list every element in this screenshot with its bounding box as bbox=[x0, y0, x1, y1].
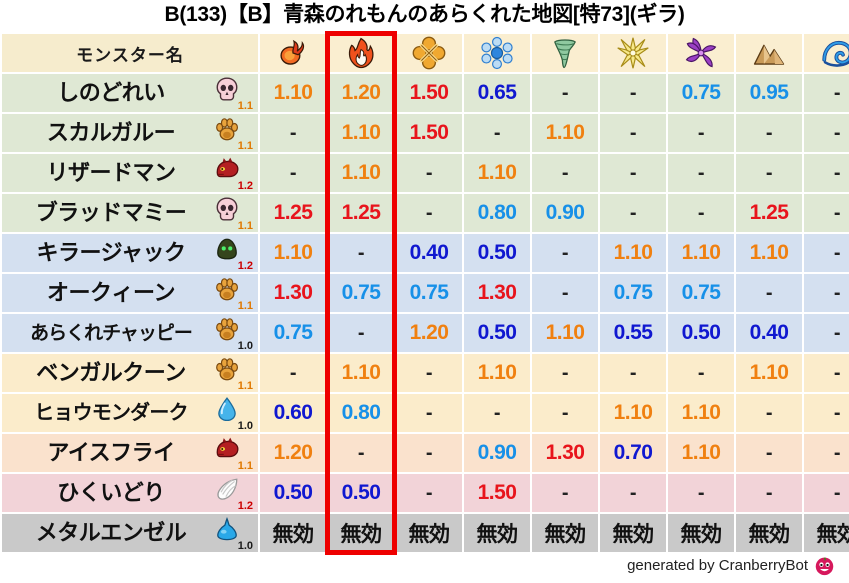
resistance-cell[interactable]: - bbox=[260, 114, 326, 152]
resistance-cell[interactable]: - bbox=[532, 74, 598, 112]
slime-dark-icon: 1.2 bbox=[212, 236, 254, 270]
resistance-cell[interactable]: 0.75 bbox=[600, 274, 666, 312]
page-title: B(133)【B】青森のれもんのあらくれた地図[特73](ギラ) bbox=[0, 0, 849, 32]
resistance-cell[interactable]: - bbox=[328, 234, 394, 272]
resistance-cell[interactable]: - bbox=[804, 474, 849, 512]
monster-name: ひくいどり bbox=[12, 482, 210, 504]
fireball-icon bbox=[260, 36, 326, 70]
monster-name-cell[interactable]: キラージャック1.2 bbox=[2, 234, 258, 272]
resistance-cell[interactable]: 0.40 bbox=[396, 234, 462, 272]
droplet-icon: 1.0 bbox=[212, 396, 254, 430]
resistance-cell[interactable]: 1.10 bbox=[600, 234, 666, 272]
resistance-cell[interactable]: 1.10 bbox=[736, 354, 802, 392]
header-element-8[interactable] bbox=[804, 34, 849, 72]
resistance-cell[interactable]: 1.30 bbox=[532, 434, 598, 472]
resistance-cell[interactable]: 1.10 bbox=[668, 394, 734, 432]
table-row: オークィーン1.11.300.750.751.30-0.750.75-- bbox=[2, 274, 849, 312]
resistance-cell[interactable]: - bbox=[532, 474, 598, 512]
resistance-cell[interactable]: - bbox=[804, 434, 849, 472]
monster-name: ヒョウモンダーク bbox=[12, 403, 210, 423]
resistance-cell[interactable]: - bbox=[804, 394, 849, 432]
resistance-cell[interactable]: 0.65 bbox=[464, 74, 530, 112]
resistance-cell[interactable]: - bbox=[600, 154, 666, 192]
resistance-cell[interactable]: 0.75 bbox=[668, 274, 734, 312]
header-element-0[interactable] bbox=[260, 34, 326, 72]
monster-name: キラージャック bbox=[12, 242, 210, 264]
resistance-cell[interactable]: - bbox=[804, 154, 849, 192]
table-row: リザードマン1.2-1.10-1.10----- bbox=[2, 154, 849, 192]
resistance-cell[interactable]: - bbox=[532, 234, 598, 272]
resistance-cell[interactable]: 無効 bbox=[464, 514, 530, 552]
resistance-cell[interactable]: 1.50 bbox=[396, 114, 462, 152]
resistance-cell[interactable]: 0.80 bbox=[464, 194, 530, 232]
monster-name-cell[interactable]: ひくいどり1.2 bbox=[2, 474, 258, 512]
dragon-icon: 1.1 bbox=[212, 436, 254, 470]
table-row: しのどれい1.11.101.201.500.65--0.750.95- bbox=[2, 74, 849, 112]
header-element-2[interactable] bbox=[396, 34, 462, 72]
resistance-cell[interactable]: 0.75 bbox=[396, 274, 462, 312]
cranberry-icon bbox=[814, 555, 835, 576]
monster-name: ブラッドマミー bbox=[12, 202, 210, 224]
resistance-cell[interactable]: 1.10 bbox=[260, 234, 326, 272]
resistance-cell[interactable]: 1.10 bbox=[328, 114, 394, 152]
resistance-cell[interactable]: - bbox=[396, 154, 462, 192]
skull-icon: 1.1 bbox=[212, 196, 254, 230]
resistance-multiplier: 1.1 bbox=[238, 461, 253, 472]
resistance-cell[interactable]: 0.60 bbox=[260, 394, 326, 432]
resistance-cell[interactable]: - bbox=[668, 474, 734, 512]
resistance-cell[interactable]: - bbox=[736, 154, 802, 192]
resistance-cell[interactable]: 0.50 bbox=[464, 234, 530, 272]
table-row: スカルガルー1.1-1.101.50-1.10---- bbox=[2, 114, 849, 152]
resistance-cell[interactable]: 1.10 bbox=[532, 314, 598, 352]
resistance-cell[interactable]: - bbox=[804, 234, 849, 272]
explosion-icon bbox=[396, 36, 462, 70]
lightning-icon bbox=[600, 36, 666, 70]
resistance-cell[interactable]: 0.50 bbox=[260, 474, 326, 512]
resistance-cell[interactable]: - bbox=[668, 154, 734, 192]
resistance-cell[interactable]: 0.80 bbox=[328, 394, 394, 432]
resistance-cell[interactable]: 1.10 bbox=[736, 234, 802, 272]
resistance-cell[interactable]: 0.70 bbox=[600, 434, 666, 472]
resistance-cell[interactable]: - bbox=[736, 394, 802, 432]
resistance-multiplier: 1.0 bbox=[238, 541, 253, 552]
resistance-cell[interactable]: 無効 bbox=[736, 514, 802, 552]
resistance-cell[interactable]: 1.50 bbox=[464, 474, 530, 512]
resistance-cell[interactable]: - bbox=[532, 274, 598, 312]
resistance-cell[interactable]: 1.25 bbox=[260, 194, 326, 232]
resistance-multiplier: 1.1 bbox=[238, 101, 253, 112]
resistance-cell[interactable]: 1.10 bbox=[464, 354, 530, 392]
resistance-cell[interactable]: 0.40 bbox=[736, 314, 802, 352]
resistance-multiplier: 1.1 bbox=[238, 381, 253, 392]
resistance-multiplier: 1.1 bbox=[238, 141, 253, 152]
resistance-cell[interactable]: - bbox=[600, 74, 666, 112]
resistance-cell[interactable]: 0.75 bbox=[260, 314, 326, 352]
paw-icon: 1.1 bbox=[212, 116, 254, 150]
resistance-cell[interactable]: 1.10 bbox=[600, 394, 666, 432]
resistance-multiplier: 1.2 bbox=[238, 261, 253, 272]
resistance-cell[interactable]: 1.30 bbox=[464, 274, 530, 312]
resistance-cell[interactable]: - bbox=[532, 394, 598, 432]
table-row: ヒョウモンダーク1.00.600.80---1.101.10-- bbox=[2, 394, 849, 432]
resistance-cell[interactable]: 0.55 bbox=[600, 314, 666, 352]
resistance-multiplier: 1.0 bbox=[238, 421, 253, 432]
monster-name: あらくれチャッピー bbox=[12, 324, 210, 343]
resistance-cell[interactable]: - bbox=[328, 434, 394, 472]
dark-icon bbox=[668, 36, 734, 70]
resistance-cell[interactable]: - bbox=[736, 114, 802, 152]
resistance-cell[interactable]: - bbox=[328, 314, 394, 352]
resistance-cell[interactable]: 0.75 bbox=[668, 74, 734, 112]
resistance-cell[interactable]: 1.10 bbox=[668, 234, 734, 272]
resistance-cell[interactable]: - bbox=[804, 74, 849, 112]
monster-name: オークィーン bbox=[12, 282, 210, 304]
resistance-multiplier: 1.2 bbox=[238, 501, 253, 512]
monster-name: しのどれい bbox=[12, 82, 210, 104]
resistance-cell[interactable]: 0.90 bbox=[532, 194, 598, 232]
page-root: B(133)【B】青森のれもんのあらくれた地図[特73](ギラ) モンスター名し… bbox=[0, 0, 849, 583]
resistance-cell[interactable]: - bbox=[396, 394, 462, 432]
resistance-cell[interactable]: - bbox=[396, 194, 462, 232]
monster-name: ベンガルクーン bbox=[12, 362, 210, 384]
header-element-1[interactable] bbox=[328, 34, 394, 72]
resistance-cell[interactable]: 0.75 bbox=[328, 274, 394, 312]
table-body: モンスター名しのどれい1.11.101.201.500.65--0.750.95… bbox=[2, 34, 849, 552]
resistance-cell[interactable]: 1.50 bbox=[396, 74, 462, 112]
resistance-cell[interactable]: 無効 bbox=[532, 514, 598, 552]
monster-name-cell[interactable]: リザードマン1.2 bbox=[2, 154, 258, 192]
snowflake-icon bbox=[464, 36, 530, 70]
resistance-cell[interactable]: 1.10 bbox=[328, 354, 394, 392]
monster-name-cell[interactable]: スカルガルー1.1 bbox=[2, 114, 258, 152]
resistance-cell[interactable]: - bbox=[396, 354, 462, 392]
monster-name-cell[interactable]: ブラッドマミー1.1 bbox=[2, 194, 258, 232]
paw-icon: 1.0 bbox=[212, 316, 254, 350]
table-row: ベンガルクーン1.1-1.10-1.10---1.10- bbox=[2, 354, 849, 392]
resistance-cell[interactable]: - bbox=[600, 354, 666, 392]
footer-credit: generated by CranberryBot bbox=[627, 555, 835, 576]
resistance-cell[interactable]: - bbox=[736, 274, 802, 312]
resistance-multiplier: 1.2 bbox=[238, 181, 253, 192]
resistance-cell[interactable]: 0.95 bbox=[736, 74, 802, 112]
monster-name-cell[interactable]: オークィーン1.1 bbox=[2, 274, 258, 312]
resistance-cell[interactable]: 1.20 bbox=[328, 74, 394, 112]
resistance-cell[interactable]: - bbox=[600, 474, 666, 512]
header-name-column: モンスター名 bbox=[2, 34, 258, 72]
monster-name-cell[interactable]: アイスフライ1.1 bbox=[2, 434, 258, 472]
resistance-cell[interactable]: 無効 bbox=[328, 514, 394, 552]
resistance-cell[interactable]: 1.30 bbox=[260, 274, 326, 312]
resistance-cell[interactable]: 0.50 bbox=[464, 314, 530, 352]
flame-icon bbox=[328, 36, 394, 70]
resistance-cell[interactable]: 1.25 bbox=[328, 194, 394, 232]
resistance-cell[interactable]: 無効 bbox=[260, 514, 326, 552]
monster-name: スカルガルー bbox=[12, 122, 210, 144]
resistance-cell[interactable]: 1.25 bbox=[736, 194, 802, 232]
monster-name: アイスフライ bbox=[12, 442, 210, 464]
resistance-cell[interactable]: 無効 bbox=[804, 514, 849, 552]
monster-name-cell[interactable]: あらくれチャッピー1.0 bbox=[2, 314, 258, 352]
resistance-cell[interactable]: - bbox=[464, 394, 530, 432]
resistance-cell[interactable]: 無効 bbox=[668, 514, 734, 552]
resistance-cell[interactable]: 1.20 bbox=[396, 314, 462, 352]
resistance-cell[interactable]: - bbox=[260, 154, 326, 192]
table-row: キラージャック1.21.10-0.400.50-1.101.101.10- bbox=[2, 234, 849, 272]
paw-icon: 1.1 bbox=[212, 356, 254, 390]
resistance-cell[interactable]: - bbox=[804, 274, 849, 312]
resistance-cell[interactable]: 1.20 bbox=[260, 434, 326, 472]
monster-name-cell[interactable]: ヒョウモンダーク1.0 bbox=[2, 394, 258, 432]
resistance-table: モンスター名しのどれい1.11.101.201.500.65--0.750.95… bbox=[0, 32, 849, 554]
dragon-icon: 1.2 bbox=[212, 156, 254, 190]
resistance-cell[interactable]: - bbox=[260, 354, 326, 392]
resistance-cell[interactable]: - bbox=[600, 194, 666, 232]
resistance-cell[interactable]: 1.10 bbox=[464, 154, 530, 192]
resistance-cell[interactable]: - bbox=[804, 114, 849, 152]
resistance-cell[interactable]: 1.10 bbox=[532, 114, 598, 152]
table-row: あらくれチャッピー1.00.75-1.200.501.100.550.500.4… bbox=[2, 314, 849, 352]
resistance-cell[interactable]: - bbox=[532, 154, 598, 192]
tornado-icon bbox=[532, 36, 598, 70]
monster-name: メタルエンゼル bbox=[12, 522, 210, 544]
resistance-cell[interactable]: 無効 bbox=[600, 514, 666, 552]
table-header-row: モンスター名 bbox=[2, 34, 849, 72]
resistance-multiplier: 1.1 bbox=[238, 221, 253, 232]
resistance-cell[interactable]: 0.50 bbox=[328, 474, 394, 512]
resistance-cell[interactable]: 0.90 bbox=[464, 434, 530, 472]
resistance-cell[interactable]: - bbox=[736, 434, 802, 472]
resistance-cell[interactable]: 1.10 bbox=[260, 74, 326, 112]
resistance-multiplier: 1.0 bbox=[238, 341, 253, 352]
resistance-cell[interactable]: - bbox=[804, 354, 849, 392]
resistance-cell[interactable]: - bbox=[668, 194, 734, 232]
resistance-cell[interactable]: 1.10 bbox=[328, 154, 394, 192]
header-element-7[interactable] bbox=[736, 34, 802, 72]
water-icon bbox=[804, 36, 849, 70]
footer-text: generated by CranberryBot bbox=[627, 557, 808, 574]
header-element-6[interactable] bbox=[668, 34, 734, 72]
resistance-cell[interactable]: - bbox=[464, 114, 530, 152]
monster-name: リザードマン bbox=[12, 162, 210, 184]
table-row: ひくいどり1.20.500.50-1.50----- bbox=[2, 474, 849, 512]
resistance-cell[interactable]: - bbox=[804, 314, 849, 352]
monster-name-cell[interactable]: メタルエンゼル1.0 bbox=[2, 514, 258, 552]
resistance-cell[interactable]: - bbox=[668, 114, 734, 152]
resistance-cell[interactable]: - bbox=[736, 474, 802, 512]
resistance-cell[interactable]: 0.50 bbox=[668, 314, 734, 352]
table-row: アイスフライ1.11.20--0.901.300.701.10-- bbox=[2, 434, 849, 472]
resistance-cell[interactable]: 無効 bbox=[396, 514, 462, 552]
skull-icon: 1.1 bbox=[212, 76, 254, 110]
resistance-cell[interactable]: - bbox=[396, 434, 462, 472]
resistance-multiplier: 1.1 bbox=[238, 301, 253, 312]
wing-icon: 1.2 bbox=[212, 476, 254, 510]
header-element-5[interactable] bbox=[600, 34, 666, 72]
resistance-cell[interactable]: - bbox=[668, 354, 734, 392]
earth-icon bbox=[736, 36, 802, 70]
header-element-4[interactable] bbox=[532, 34, 598, 72]
resistance-cell[interactable]: 1.10 bbox=[668, 434, 734, 472]
resistance-cell[interactable]: - bbox=[600, 114, 666, 152]
table-row: ブラッドマミー1.11.251.25-0.800.90--1.25- bbox=[2, 194, 849, 232]
monster-name-cell[interactable]: しのどれい1.1 bbox=[2, 74, 258, 112]
resistance-cell[interactable]: - bbox=[804, 194, 849, 232]
paw-icon: 1.1 bbox=[212, 276, 254, 310]
slime-blue-icon: 1.0 bbox=[212, 516, 254, 550]
resistance-cell[interactable]: - bbox=[532, 354, 598, 392]
header-element-3[interactable] bbox=[464, 34, 530, 72]
table-row: メタルエンゼル1.0無効無効無効無効無効無効無効無効無効 bbox=[2, 514, 849, 552]
resistance-cell[interactable]: - bbox=[396, 474, 462, 512]
monster-name-cell[interactable]: ベンガルクーン1.1 bbox=[2, 354, 258, 392]
